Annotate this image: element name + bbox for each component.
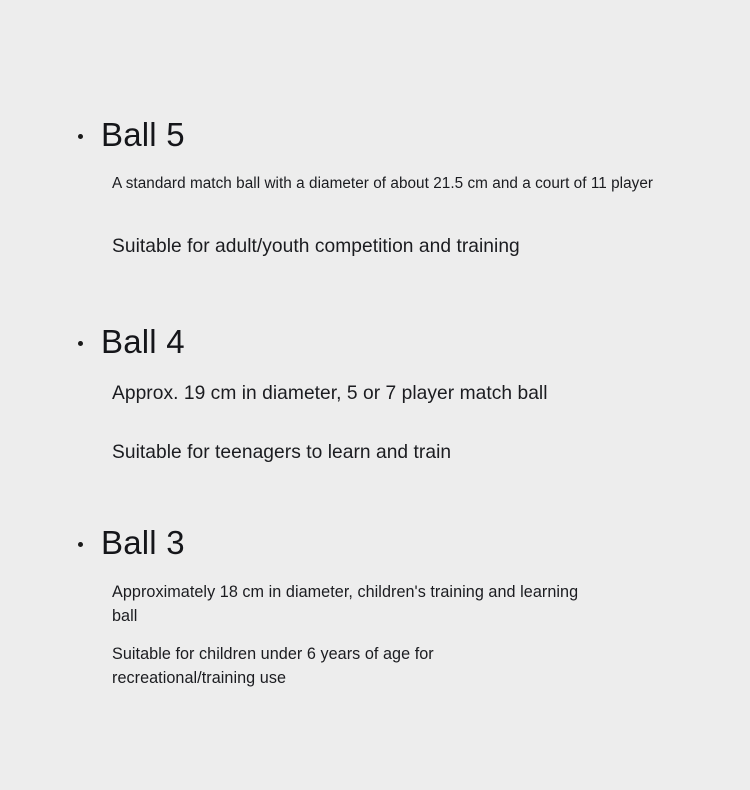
ball-title-4: Ball 4	[101, 321, 185, 363]
ball-description-text-5: A standard match ball with a diameter of…	[112, 173, 704, 194]
ball-heading-row-5: Ball 5	[0, 114, 750, 160]
bullet-dot-icon	[78, 542, 83, 547]
ball-suitability-text-4: Suitable for teenagers to learn and trai…	[112, 440, 712, 466]
ball-section-4: Ball 4 Approx. 19 cm in diameter, 5 or 7…	[0, 321, 750, 367]
ball-description-4: Approx. 19 cm in diameter, 5 or 7 player…	[112, 381, 712, 407]
ball-suitability-5: Suitable for adult/youth competition and…	[112, 234, 712, 260]
ball-section-3: Ball 3 Approximately 18 cm in diameter, …	[0, 522, 750, 568]
ball-suitability-3: Suitable for children under 6 years of a…	[112, 642, 532, 690]
ball-section-5: Ball 5 A standard match ball with a diam…	[0, 114, 750, 160]
ball-title-3: Ball 3	[101, 522, 185, 564]
ball-description-5: A standard match ball with a diameter of…	[112, 173, 704, 194]
ball-title-5: Ball 5	[101, 114, 185, 156]
bullet-dot-icon	[78, 341, 83, 346]
ball-heading-row-4: Ball 4	[0, 321, 750, 367]
ball-description-text-3: Approximately 18 cm in diameter, childre…	[112, 580, 602, 628]
ball-heading-row-3: Ball 3	[0, 522, 750, 568]
slide-canvas: Ball 5 A standard match ball with a diam…	[0, 0, 750, 790]
ball-suitability-text-3: Suitable for children under 6 years of a…	[112, 642, 532, 690]
ball-description-text-4: Approx. 19 cm in diameter, 5 or 7 player…	[112, 381, 712, 407]
bullet-dot-icon	[78, 134, 83, 139]
ball-description-3: Approximately 18 cm in diameter, childre…	[112, 580, 602, 628]
ball-suitability-4: Suitable for teenagers to learn and trai…	[112, 440, 712, 466]
ball-suitability-text-5: Suitable for adult/youth competition and…	[112, 234, 712, 260]
